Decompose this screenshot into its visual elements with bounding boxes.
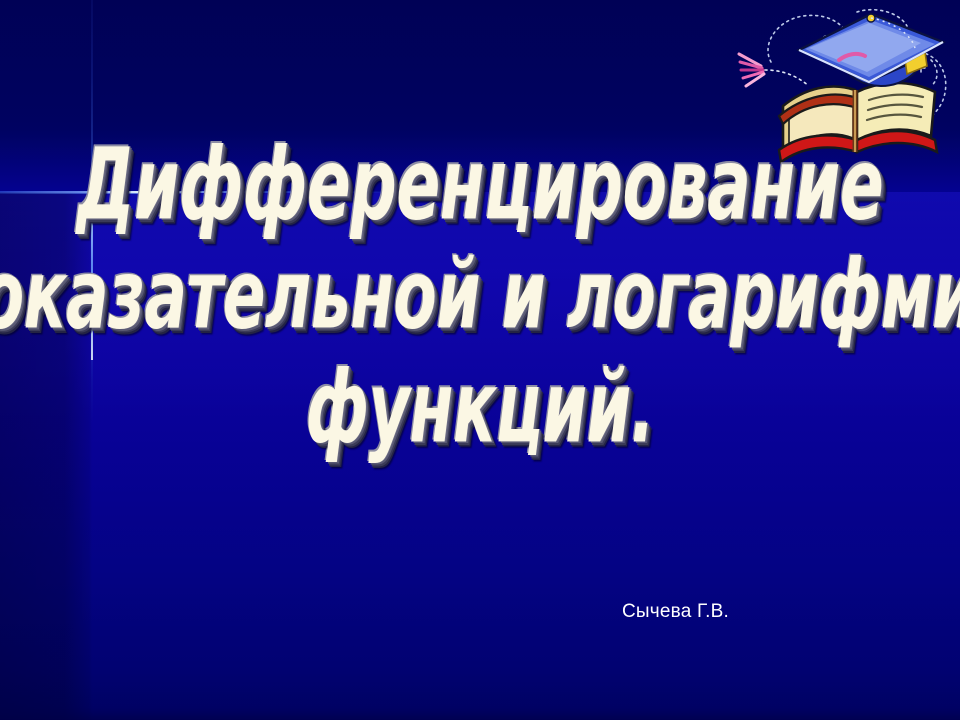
sparkle-vertical-ray-lower <box>91 192 93 422</box>
presentation-slide: Дифференцирование показательной и логари… <box>0 0 960 720</box>
slide-background-left-column-shade <box>0 192 92 720</box>
sparkle-core <box>90 190 95 195</box>
slide-background-bottom-shade <box>0 708 960 720</box>
slide-background-highlight-band <box>0 192 960 492</box>
graduation-cap-on-open-book-icon <box>735 0 960 172</box>
sparkle-horizontal-ray-secondary <box>0 193 200 194</box>
author-name: Сычева Г.В. <box>622 601 729 623</box>
